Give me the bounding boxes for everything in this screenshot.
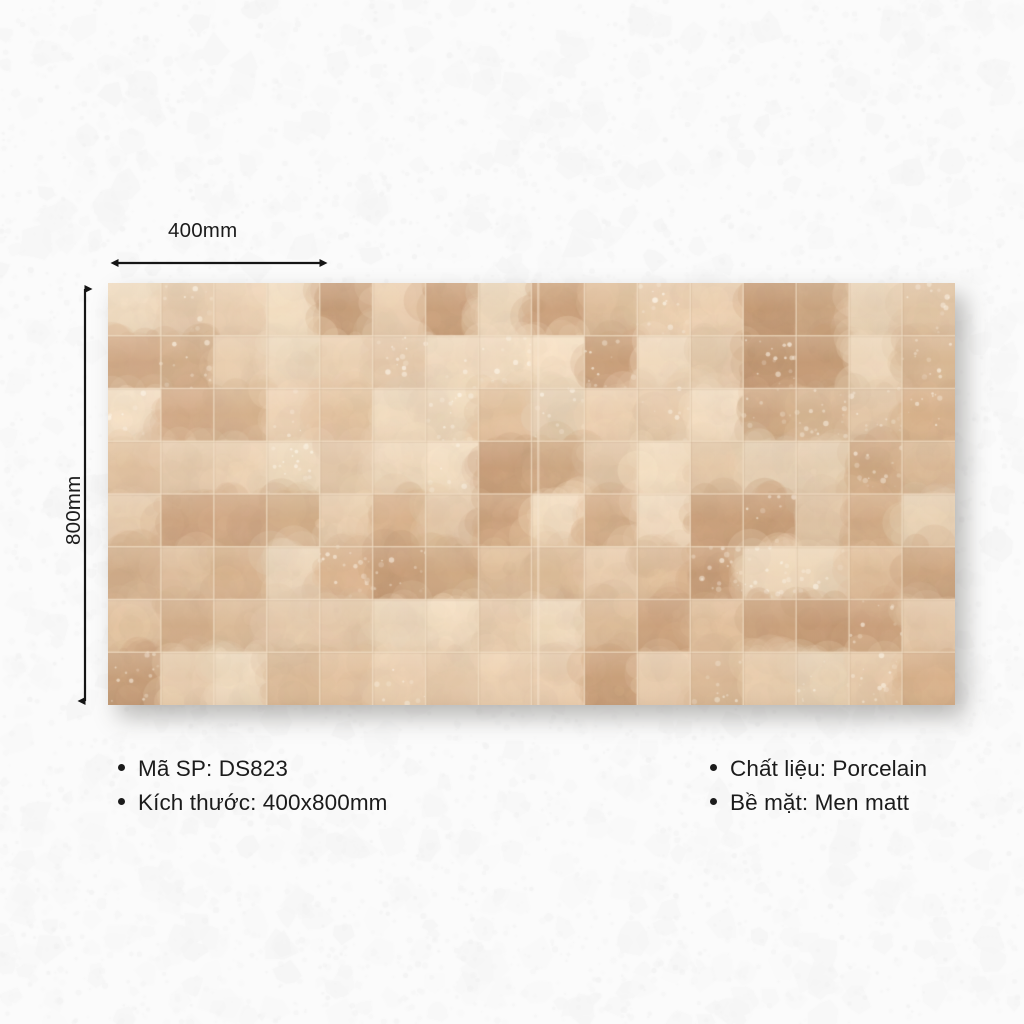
bullet-icon [710,798,717,805]
bullet-icon [118,764,125,771]
bullet-icon [118,798,125,805]
width-dimension-arrow-icon [108,252,328,274]
spec-column-right: Chất liệu: Porcelain Bề mặt: Men matt [710,752,1000,820]
spec-text-surface: Bề mặt: Men matt [730,786,909,820]
spec-item-surface: Bề mặt: Men matt [710,786,1000,820]
spec-text-size: Kích thước: 400x800mm [138,786,388,820]
tile-surface-texture [108,283,955,705]
width-dimension-label: 400mm [168,219,237,243]
spec-text-material: Chất liệu: Porcelain [730,752,927,786]
spec-item-material: Chất liệu: Porcelain [710,752,1000,786]
tile-product-image [108,283,955,705]
spec-item-size: Kích thước: 400x800mm [118,786,638,820]
spec-text-product-code: Mã SP: DS823 [138,752,288,786]
bullet-icon [710,764,717,771]
product-spec-list: Mã SP: DS823 Kích thước: 400x800mm Chất … [118,752,998,832]
spec-item-product-code: Mã SP: DS823 [118,752,638,786]
spec-column-left: Mã SP: DS823 Kích thước: 400x800mm [118,752,638,820]
height-dimension-arrow-icon [74,280,96,710]
